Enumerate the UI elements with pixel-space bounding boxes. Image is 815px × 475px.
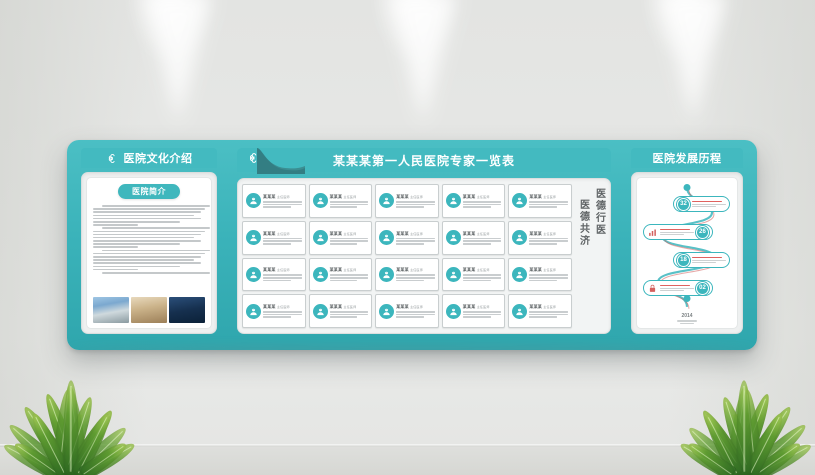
calligraphy-column-right: 医德行医: [592, 188, 607, 236]
timeline-node-text: [660, 229, 694, 236]
expert-title: 主任医师: [477, 232, 490, 236]
intro-text-line: [93, 259, 194, 261]
expert-name: 某某某 主任医师: [330, 231, 369, 237]
expert-detail-lines: [463, 201, 502, 208]
hospital-building-photo: [93, 297, 129, 323]
doctor-avatar-icon: [446, 193, 461, 208]
expert-card[interactable]: 某某某 主任医师: [242, 184, 306, 218]
intro-text-line: [93, 224, 138, 226]
expert-detail-lines: [396, 274, 435, 281]
intro-text-line: [93, 221, 180, 223]
expert-title: 主任医师: [344, 232, 357, 236]
intro-text-line: [102, 272, 210, 274]
potted-palm-left: [0, 355, 162, 475]
expert-card[interactable]: 某某某 主任医师: [442, 221, 506, 255]
expert-name: 某某某 主任医师: [263, 231, 302, 237]
intro-text-line: [93, 208, 205, 210]
expert-card[interactable]: 某某某 主任医师: [442, 184, 506, 218]
intro-text-line: [93, 246, 138, 248]
doctor-avatar-icon: [379, 230, 394, 245]
doctor-avatar-icon: [246, 267, 261, 282]
intro-text-line: [93, 256, 201, 258]
expert-detail-lines: [396, 201, 435, 208]
expert-card[interactable]: 某某某 主任医师: [508, 221, 572, 255]
timeline-node[interactable]: 18: [673, 252, 730, 268]
medical-technology-photo: [169, 297, 205, 323]
hospital-corridor-photo: [131, 297, 167, 323]
expert-name: 某某某 主任医师: [396, 231, 435, 237]
expert-card[interactable]: 某某某 主任医师: [309, 184, 373, 218]
intro-text-line: [93, 240, 201, 242]
expert-name: 某某某 主任医师: [263, 194, 302, 200]
timeline-node-text: [692, 257, 726, 264]
expert-detail-lines: [396, 238, 435, 245]
expert-name: 某某某 主任医师: [396, 194, 435, 200]
timeline-node-number: 02: [696, 282, 709, 295]
doctor-avatar-icon: [512, 267, 527, 282]
chart-icon: [647, 227, 658, 238]
expert-name: 某某某 主任医师: [396, 267, 435, 273]
doctor-avatar-icon: [446, 267, 461, 282]
expert-card-grid: 某某某 主任医师某某某 主任医师某某某 主任医师某某某 主任医师某某某 主任医师…: [242, 184, 572, 328]
expert-name: 某某某 主任医师: [330, 194, 369, 200]
timeline-node[interactable]: 26: [643, 224, 713, 240]
expert-title: 主任医师: [277, 268, 290, 272]
expert-card[interactable]: 某某某 主任医师: [242, 258, 306, 292]
hospital-logo-icon: [106, 152, 119, 165]
expert-title: 主任医师: [277, 232, 290, 236]
spotlight-beam-3: [659, 0, 727, 124]
expert-card[interactable]: 某某某 主任医师: [375, 221, 439, 255]
doctor-avatar-icon: [246, 193, 261, 208]
room-scene: 医院文化介绍 医院简介 某某某第一人民医院专家一览表: [0, 0, 815, 475]
timeline-end-year: 2014: [677, 313, 697, 324]
intro-text-line: [93, 215, 194, 217]
intro-text-line: [93, 231, 205, 233]
expert-name: 某某某 主任医师: [463, 194, 502, 200]
expert-title: 主任医师: [543, 305, 556, 309]
timeline-node[interactable]: 02: [643, 280, 713, 296]
expert-card[interactable]: 某某某 主任医师: [242, 221, 306, 255]
panel-expert-list: 某某某第一人民医院专家一览表: [231, 146, 617, 344]
intro-text-line: [93, 253, 205, 255]
expert-grid-container: 某某某 主任医师某某某 主任医师某某某 主任医师某某某 主任医师某某某 主任医师…: [237, 178, 611, 334]
hospital-intro-paragraph: [93, 203, 205, 293]
expert-detail-lines: [463, 274, 502, 281]
spotlight-beam-1: [144, 0, 212, 124]
right-panel-header: 医院发展历程: [631, 148, 743, 168]
expert-title: 主任医师: [410, 232, 423, 236]
doctor-avatar-icon: [512, 193, 527, 208]
development-timeline: 32261802 2014: [636, 177, 738, 329]
expert-title: 主任医师: [477, 268, 490, 272]
doctor-avatar-icon: [446, 230, 461, 245]
doctor-avatar-icon: [313, 193, 328, 208]
timeline-node[interactable]: 32: [673, 196, 730, 212]
expert-detail-lines: [529, 238, 568, 245]
intro-text-line: [102, 250, 210, 252]
doctor-avatar-icon: [446, 304, 461, 319]
expert-detail-lines: [529, 311, 568, 318]
timeline-node-number: 26: [696, 226, 709, 239]
expert-detail-lines: [529, 274, 568, 281]
timeline-node-text: [692, 201, 726, 208]
wall-display-board: 医院文化介绍 医院简介 某某某第一人民医院专家一览表: [67, 140, 757, 350]
doctor-avatar-icon: [313, 267, 328, 282]
expert-name: 某某某 主任医师: [263, 304, 302, 310]
doctor-avatar-icon: [512, 304, 527, 319]
expert-card[interactable]: 某某某 主任医师: [508, 258, 572, 292]
expert-name: 某某某 主任医师: [396, 304, 435, 310]
doctor-avatar-icon: [246, 304, 261, 319]
timeline-start-dot: [684, 184, 691, 191]
panel-development-history: 医院发展历程 32261802 2014: [623, 146, 751, 344]
expert-title: 主任医师: [410, 268, 423, 272]
intro-text-line: [93, 234, 201, 236]
expert-detail-lines: [330, 201, 369, 208]
expert-title: 主任医师: [277, 305, 290, 309]
expert-title: 主任医师: [344, 268, 357, 272]
expert-card[interactable]: 某某某 主任医师: [309, 221, 373, 255]
expert-card[interactable]: 某某某 主任医师: [375, 294, 439, 328]
expert-card[interactable]: 某某某 主任医师: [309, 294, 373, 328]
left-panel-title: 医院文化介绍: [124, 150, 193, 166]
intro-text-line: [102, 227, 210, 229]
expert-title: 主任医师: [543, 268, 556, 272]
panel-hospital-culture: 医院文化介绍 医院简介: [73, 146, 225, 344]
expert-name: 某某某 主任医师: [463, 304, 502, 310]
expert-card[interactable]: 某某某 主任医师: [242, 294, 306, 328]
intro-text-line: [93, 262, 201, 264]
hospital-intro-sheet: 医院简介: [86, 177, 212, 329]
intro-text-line: [93, 266, 180, 268]
expert-card[interactable]: 某某某 主任医师: [442, 258, 506, 292]
expert-detail-lines: [463, 311, 502, 318]
expert-card[interactable]: 某某某 主任医师: [309, 258, 373, 292]
intro-text-line: [102, 205, 210, 207]
expert-name: 某某某 主任医师: [529, 267, 568, 273]
expert-detail-lines: [463, 238, 502, 245]
hospital-logo-icon: [243, 151, 265, 170]
expert-title: 主任医师: [277, 195, 290, 199]
hospital-photo-row: [93, 297, 205, 323]
expert-card[interactable]: 某某某 主任医师: [442, 294, 506, 328]
expert-title: 主任医师: [477, 195, 490, 199]
expert-name: 某某某 主任医师: [529, 304, 568, 310]
expert-detail-lines: [263, 201, 302, 208]
lock-icon: [647, 283, 658, 294]
expert-name: 某某某 主任医师: [529, 231, 568, 237]
expert-detail-lines: [330, 311, 369, 318]
expert-title: 主任医师: [344, 305, 357, 309]
expert-title: 主任医师: [477, 305, 490, 309]
expert-detail-lines: [330, 274, 369, 281]
timeline-node-number: 32: [677, 198, 690, 211]
expert-detail-lines: [263, 274, 302, 281]
doctor-avatar-icon: [379, 304, 394, 319]
expert-name: 某某某 主任医师: [330, 304, 369, 310]
right-panel-body: 32261802 2014: [631, 172, 743, 334]
expert-detail-lines: [529, 201, 568, 208]
expert-title: 主任医师: [410, 195, 423, 199]
right-panel-title: 医院发展历程: [653, 150, 722, 166]
intro-text-line: [93, 243, 180, 245]
timeline-end-dot: [684, 295, 691, 302]
expert-title: 主任医师: [410, 305, 423, 309]
timeline-node-text: [660, 285, 694, 292]
doctor-avatar-icon: [379, 267, 394, 282]
expert-name: 某某某 主任医师: [463, 267, 502, 273]
vertical-calligraphy: 医德共济 医德行医: [576, 184, 606, 328]
left-panel-header: 医院文化介绍: [81, 148, 217, 168]
expert-name: 某某某 主任医师: [529, 194, 568, 200]
doctor-avatar-icon: [379, 193, 394, 208]
expert-detail-lines: [330, 238, 369, 245]
doctor-avatar-icon: [313, 304, 328, 319]
intro-text-line: [93, 237, 194, 239]
intro-text-line: [93, 269, 138, 271]
spotlight-beam-2: [389, 0, 457, 124]
left-panel-body: 医院简介: [81, 172, 217, 334]
expert-card[interactable]: 某某某 主任医师: [375, 258, 439, 292]
center-panel-title: 某某某第一人民医院专家一览表: [333, 152, 515, 169]
intro-text-line: [93, 211, 201, 213]
timeline-node-number: 18: [677, 254, 690, 267]
calligraphy-column-left: 医德共济: [576, 188, 591, 247]
hospital-intro-title: 医院简介: [118, 184, 180, 199]
expert-title: 主任医师: [543, 195, 556, 199]
potted-palm-right: [653, 355, 815, 475]
expert-name: 某某某 主任医师: [463, 231, 502, 237]
doctor-avatar-icon: [512, 230, 527, 245]
expert-title: 主任医师: [543, 232, 556, 236]
expert-card[interactable]: 某某某 主任医师: [375, 184, 439, 218]
expert-title: 主任医师: [344, 195, 357, 199]
expert-name: 某某某 主任医师: [330, 267, 369, 273]
doctor-avatar-icon: [246, 230, 261, 245]
intro-text-line: [93, 218, 201, 220]
expert-detail-lines: [263, 311, 302, 318]
expert-card[interactable]: 某某某 主任医师: [508, 184, 572, 218]
expert-detail-lines: [263, 238, 302, 245]
expert-name: 某某某 主任医师: [263, 267, 302, 273]
expert-detail-lines: [396, 311, 435, 318]
center-panel-header: 某某某第一人民医院专家一览表: [237, 148, 611, 174]
expert-card[interactable]: 某某某 主任医师: [508, 294, 572, 328]
doctor-avatar-icon: [313, 230, 328, 245]
